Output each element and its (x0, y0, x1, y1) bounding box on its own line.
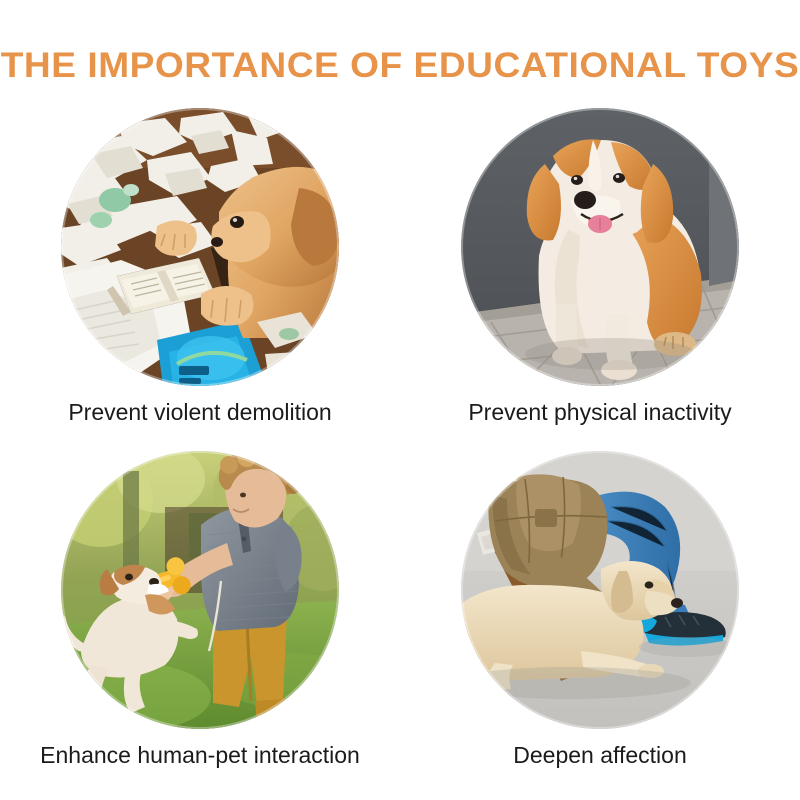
benefit-card-prevent-violent-demolition: Prevent violent demolition (0, 98, 400, 448)
benefit-grid: Prevent violent demolition (0, 98, 800, 798)
photo-dog-shredding-paper (61, 108, 339, 386)
page-title: THE IMPORTANCE OF EDUCATIONAL TOYS (0, 45, 800, 87)
benefit-card-deepen-affection: Deepen affection (400, 443, 800, 793)
photo-boy-playing-with-dog (61, 451, 339, 729)
card-caption: Prevent physical inactivity (400, 398, 800, 426)
benefit-card-prevent-physical-inactivity: Prevent physical inactivity (400, 98, 800, 448)
card-caption: Enhance human-pet interaction (0, 741, 400, 769)
photo-person-petting-labrador (461, 451, 739, 729)
card-caption: Deepen affection (400, 741, 800, 769)
card-caption: Prevent violent demolition (0, 398, 400, 426)
infographic-page: THE IMPORTANCE OF EDUCATIONAL TOYS (0, 0, 800, 800)
benefit-card-enhance-human-pet-interaction: Enhance human-pet interaction (0, 443, 400, 793)
photo-overweight-beagle (461, 108, 739, 386)
